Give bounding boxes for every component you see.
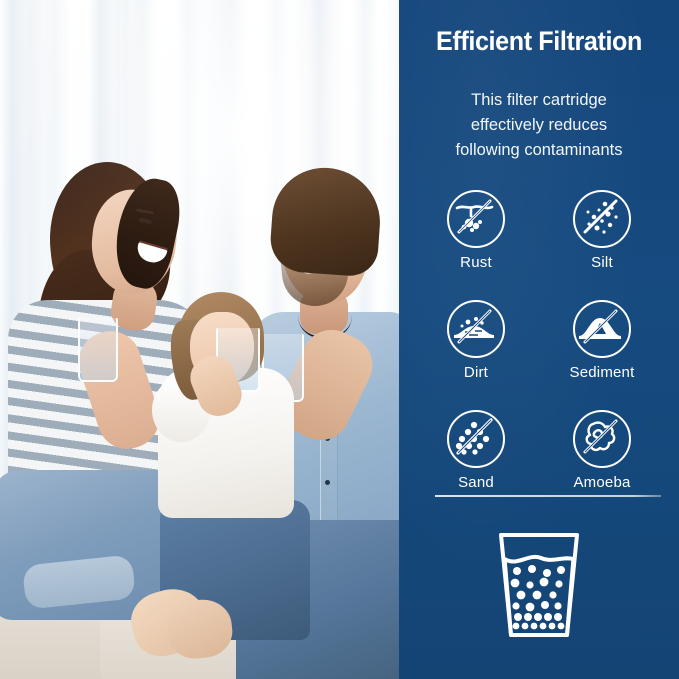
water-glass-wrap bbox=[399, 525, 679, 645]
contaminant-grid: Rust bbox=[413, 190, 665, 491]
section-divider bbox=[435, 495, 661, 497]
info-panel: Efficient Filtration This filter cartrid… bbox=[399, 0, 679, 679]
contaminant-label: Dirt bbox=[464, 364, 488, 381]
panel-subtitle: This filter cartridge effectively reduce… bbox=[417, 88, 661, 163]
contaminant-item-silt[interactable]: Silt bbox=[539, 190, 665, 271]
contaminant-label: Sand bbox=[458, 474, 494, 491]
rust-no-icon bbox=[447, 190, 505, 248]
product-infographic: Efficient Filtration This filter cartrid… bbox=[0, 0, 679, 679]
dirt-no-icon bbox=[447, 300, 505, 358]
subtitle-line-3: following contaminants bbox=[417, 138, 661, 163]
contaminant-item-sediment[interactable]: Sediment bbox=[539, 300, 665, 381]
woman-water-glass bbox=[78, 318, 118, 382]
contaminant-item-rust[interactable]: Rust bbox=[413, 190, 539, 271]
silt-no-icon bbox=[573, 190, 631, 248]
contaminant-label: Silt bbox=[591, 254, 613, 271]
contaminant-item-sand[interactable]: Sand bbox=[413, 410, 539, 491]
family-photo bbox=[0, 0, 399, 679]
sand-no-icon bbox=[447, 410, 505, 468]
subtitle-line-1: This filter cartridge bbox=[417, 88, 661, 113]
contaminant-label: Amoeba bbox=[573, 474, 630, 491]
page-title: Efficient Filtration bbox=[409, 26, 669, 57]
subtitle-line-2: effectively reduces bbox=[417, 113, 661, 138]
contaminant-label: Rust bbox=[460, 254, 492, 271]
contaminant-label: Sediment bbox=[570, 364, 635, 381]
amoeba-no-icon bbox=[573, 410, 631, 468]
contaminant-item-dirt[interactable]: Dirt bbox=[413, 300, 539, 381]
water-glass-icon bbox=[483, 525, 595, 645]
man-shirt-button bbox=[325, 480, 330, 485]
contaminant-item-amoeba[interactable]: Amoeba bbox=[539, 410, 665, 491]
sediment-no-icon bbox=[573, 300, 631, 358]
